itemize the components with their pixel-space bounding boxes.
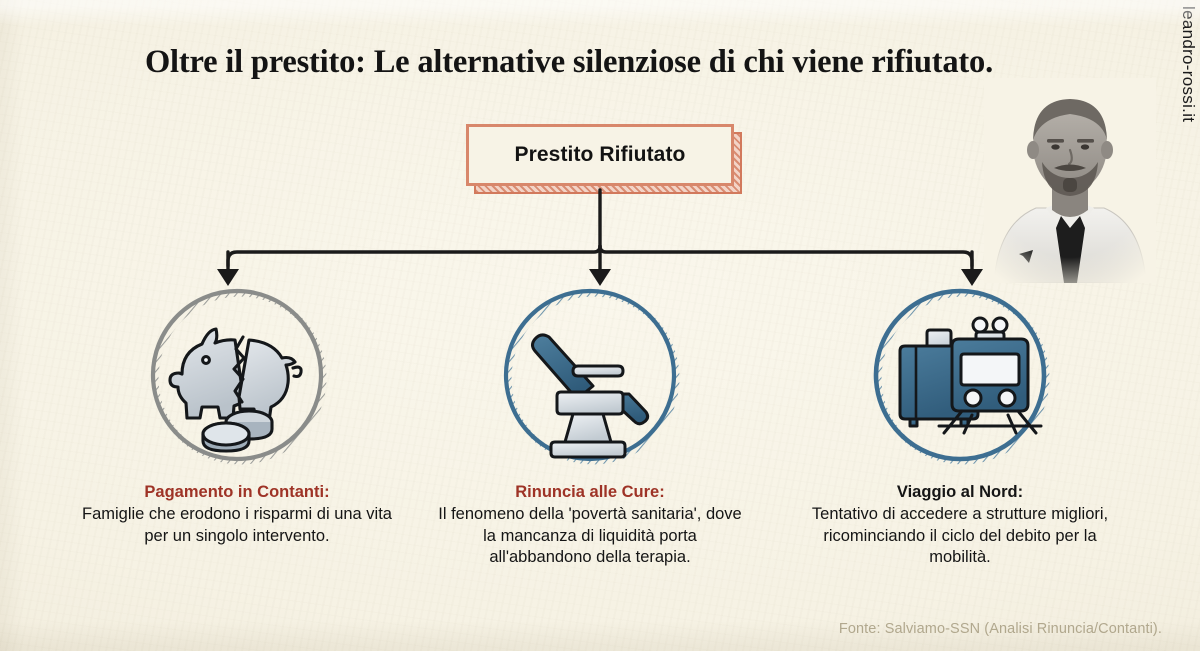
icon-circle-1 xyxy=(144,282,330,468)
caption-heading-3: Viaggio al Nord: xyxy=(801,482,1119,503)
caption-body-2: Il fenomeno della 'povertà sanitaria', d… xyxy=(431,504,749,568)
branch-viaggio-al-nord[interactable]: Viaggio al Nord: Tentativo di accedere a… xyxy=(795,282,1125,568)
watermark-site-label: leandro-rossi.it xyxy=(1178,6,1198,122)
root-node-box: Prestito Rifiutato xyxy=(466,124,734,186)
root-node-prestito-rifiutato[interactable]: Prestito Rifiutato xyxy=(466,124,734,186)
icon-circle-3 xyxy=(867,282,1053,468)
root-node-label: Prestito Rifiutato xyxy=(515,143,686,167)
icon-circle-2 xyxy=(497,282,683,468)
page-title: Oltre il prestito: Le alternative silenz… xyxy=(0,44,1200,81)
branch-rinuncia-alle-cure[interactable]: Rinuncia alle Cure: Il fenomeno della 'p… xyxy=(425,282,755,568)
caption-heading-1: Pagamento in Contanti: xyxy=(78,482,396,503)
broken-piggy-bank-icon xyxy=(170,329,301,451)
author-portrait-photo xyxy=(984,78,1156,283)
infographic-canvas: Oltre il prestito: Le alternative silenz… xyxy=(0,0,1200,651)
caption-3: Viaggio al Nord: Tentativo di accedere a… xyxy=(795,482,1125,568)
caption-1: Pagamento in Contanti: Famiglie che erod… xyxy=(72,482,402,547)
caption-body-1: Famiglie che erodono i risparmi di una v… xyxy=(78,504,396,547)
caption-body-3: Tentativo di accedere a strutture miglio… xyxy=(801,504,1119,568)
caption-heading-2: Rinuncia alle Cure: xyxy=(431,482,749,503)
source-attribution: Fonte: Salviamo-SSN (Analisi Rinuncia/Co… xyxy=(839,621,1162,637)
medical-chair-icon xyxy=(533,335,648,457)
branch-pagamento-in-contanti[interactable]: Pagamento in Contanti: Famiglie che erod… xyxy=(72,282,402,547)
caption-2: Rinuncia alle Cure: Il fenomeno della 'p… xyxy=(425,482,755,568)
